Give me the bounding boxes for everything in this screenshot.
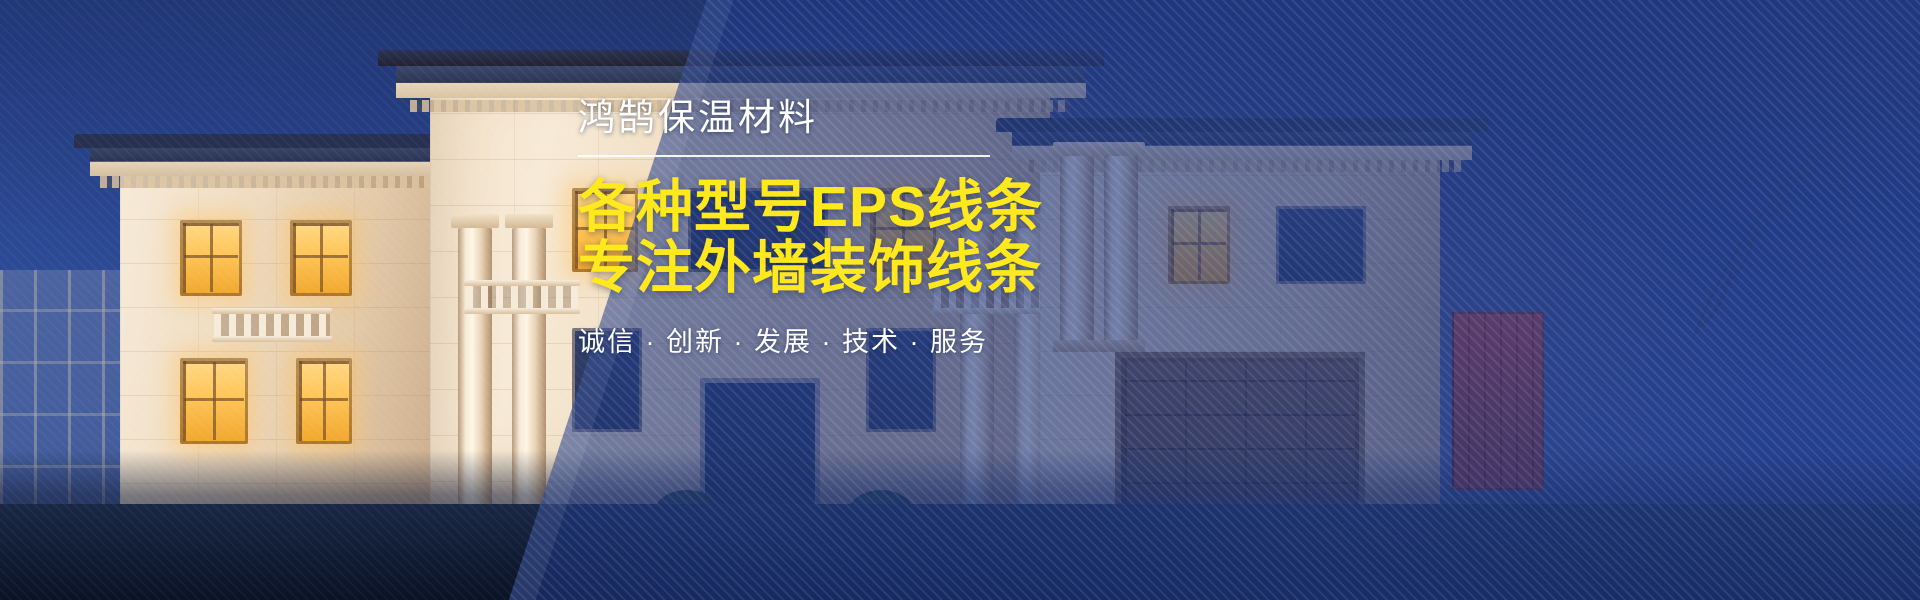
roof-left-wing	[90, 146, 470, 176]
window-lit	[180, 220, 242, 296]
window-mullion	[294, 224, 348, 292]
window-mullion	[184, 362, 244, 440]
balusters	[214, 314, 330, 336]
window-lit	[1168, 206, 1230, 284]
roof-cap-center	[378, 50, 1104, 66]
lawn	[0, 504, 1920, 600]
window-mullion	[1172, 210, 1226, 280]
balustrade	[464, 280, 580, 314]
red-container	[1452, 312, 1544, 490]
window-dark	[1276, 206, 1366, 284]
balustrade-rail	[464, 308, 580, 314]
column	[1060, 156, 1094, 352]
roof-cap-right	[996, 118, 1488, 132]
roof-cap-left	[74, 134, 486, 148]
window-lit	[296, 358, 352, 444]
balustrade-rail	[212, 336, 332, 342]
hero-banner: 鸿鹄保温材料 各种型号EPS线条 专注外墙装饰线条 诚信 · 创新 · 发展 ·…	[0, 0, 1920, 600]
balustrade	[212, 308, 332, 342]
headline: 各种型号EPS线条 专注外墙装饰线条	[578, 177, 1008, 300]
headline-line-2: 专注外墙装饰线条	[578, 238, 1008, 300]
window-mullion	[300, 362, 348, 440]
roof-center	[396, 64, 1086, 98]
brand-name: 鸿鹄保温材料	[578, 98, 1008, 139]
headline-line-1: 各种型号EPS线条	[578, 175, 1043, 239]
window-lit	[290, 220, 352, 296]
window-lit	[180, 358, 248, 444]
column	[1104, 156, 1138, 352]
window-mullion	[184, 224, 238, 292]
tree-branch	[1600, 120, 1860, 350]
banner-copy: 鸿鹄保温材料 各种型号EPS线条 专注外墙装饰线条 诚信 · 创新 · 发展 ·…	[578, 98, 1008, 358]
divider-rule	[578, 155, 990, 157]
tagline: 诚信 · 创新 · 发展 · 技术 · 服务	[578, 326, 1008, 358]
balusters	[466, 286, 578, 308]
cornice-left	[100, 176, 460, 188]
